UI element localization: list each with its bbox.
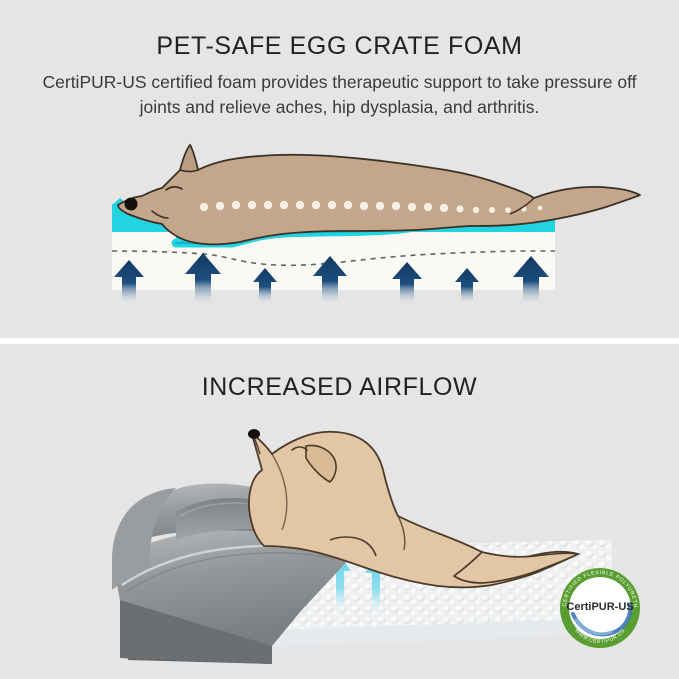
infographic-root: PET-SAFE EGG CRATE FOAM CertiPUR-US cert…: [0, 0, 679, 679]
panel-two-headline: INCREASED AIRFLOW: [0, 373, 679, 402]
panel-one-subcopy: CertiPUR-US certified foam provides ther…: [20, 70, 659, 120]
panel-one-headline: PET-SAFE EGG CRATE FOAM: [0, 32, 679, 61]
